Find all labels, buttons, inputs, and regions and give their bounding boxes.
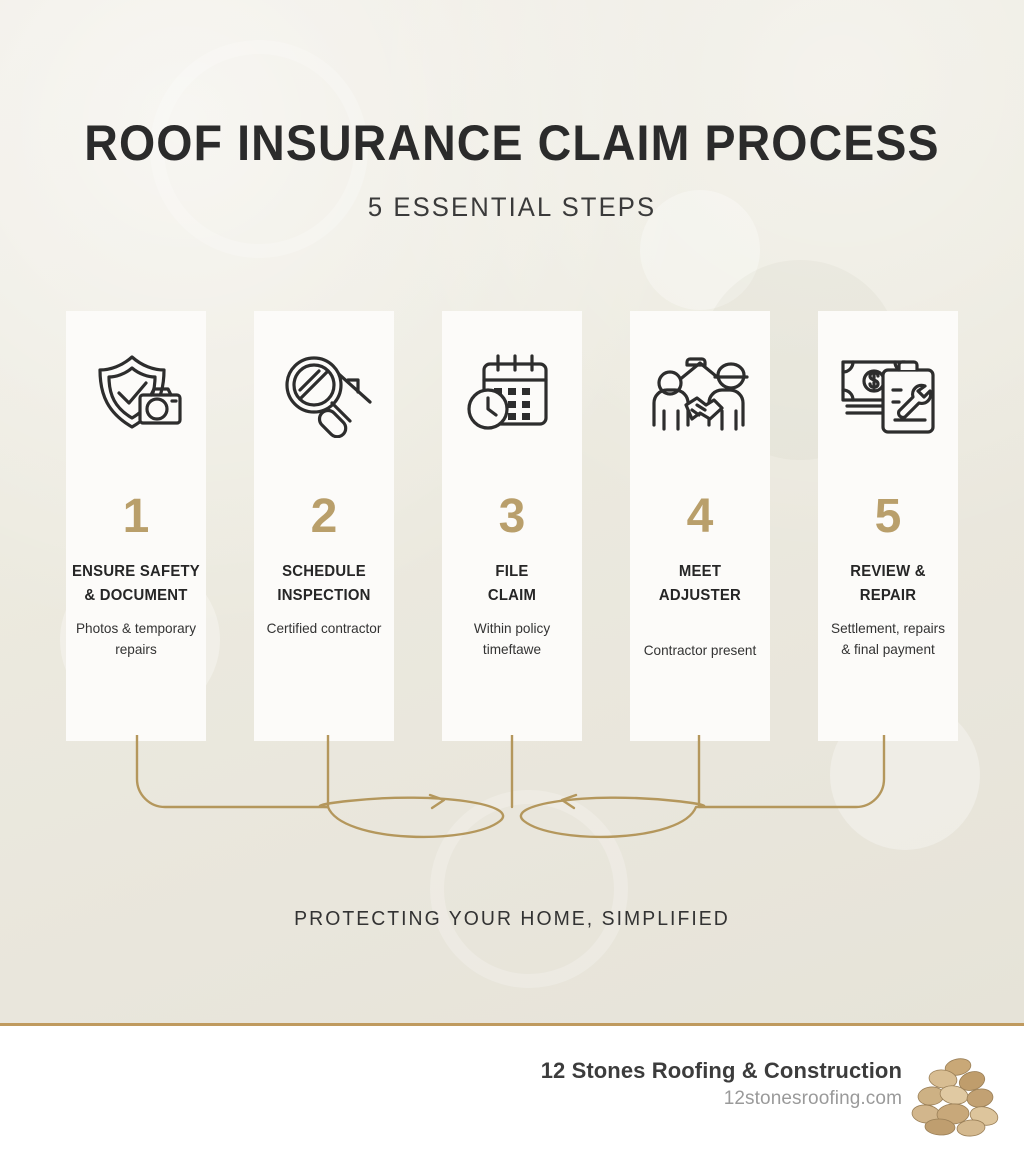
flow-connector-lines (0, 735, 1024, 855)
step-number: 1 (66, 493, 206, 541)
brand-url[interactable]: 12stonesroofing.com (541, 1088, 902, 1111)
step-title: REVIEW & REPAIR (821, 560, 955, 608)
step-description: Contractor present (628, 640, 772, 661)
step-card-1: 1 ENSURE SAFETY & DOCUMENT Photos & temp… (66, 311, 206, 741)
brand-name: 12 Stones Roofing & Construction (541, 1058, 902, 1084)
step-card-5: 5 REVIEW & REPAIR Settlement, repairs & … (818, 311, 958, 741)
shield-check-camera-icon (66, 341, 206, 446)
step-card-3: 3 FILE CLAIM Within policy timeftawe (442, 311, 582, 741)
money-clipboard-wrench-icon (818, 341, 958, 446)
handshake-roof-icon (630, 341, 770, 446)
step-number: 3 (442, 493, 582, 541)
step-card-2: 2 SCHEDULE INSPECTION Certified contract… (254, 311, 394, 741)
step-description: Within policy timeftawe (440, 618, 584, 659)
step-card-4: 4 MEET ADJUSTER Contractor present (630, 311, 770, 741)
step-number: 2 (254, 493, 394, 541)
page-title: ROOF INSURANCE CLAIM PROCESS (36, 118, 988, 168)
step-number: 5 (818, 493, 958, 541)
stone-stack-logo (910, 1054, 1006, 1140)
calendar-clock-icon (442, 341, 582, 446)
infographic-poster: ROOF INSURANCE CLAIM PROCESS 5 ESSENTIAL… (0, 0, 1024, 1154)
brand-block: 12 Stones Roofing & Construction 12stone… (541, 1058, 902, 1111)
step-description: Certified contractor (252, 618, 396, 639)
step-description: Photos & temporary repairs (64, 618, 208, 659)
magnifier-roof-icon (254, 341, 394, 446)
steps-row: 1 ENSURE SAFETY & DOCUMENT Photos & temp… (66, 311, 958, 741)
poster-footer: 12 Stones Roofing & Construction 12stone… (0, 1026, 1024, 1154)
step-number: 4 (630, 493, 770, 541)
step-title: ENSURE SAFETY & DOCUMENT (69, 560, 203, 608)
step-title: MEET ADJUSTER (633, 560, 767, 608)
page-subtitle: 5 ESSENTIAL STEPS (26, 192, 999, 223)
step-description: Settlement, repairs & final payment (816, 618, 960, 659)
step-title: SCHEDULE INSPECTION (257, 560, 391, 608)
step-title: FILE CLAIM (445, 560, 579, 608)
tagline: PROTECTING YOUR HOME, SIMPLIFIED (15, 908, 1008, 931)
poster-header: ROOF INSURANCE CLAIM PROCESS 5 ESSENTIAL… (0, 118, 1024, 223)
poster-body: ROOF INSURANCE CLAIM PROCESS 5 ESSENTIAL… (0, 0, 1024, 1023)
